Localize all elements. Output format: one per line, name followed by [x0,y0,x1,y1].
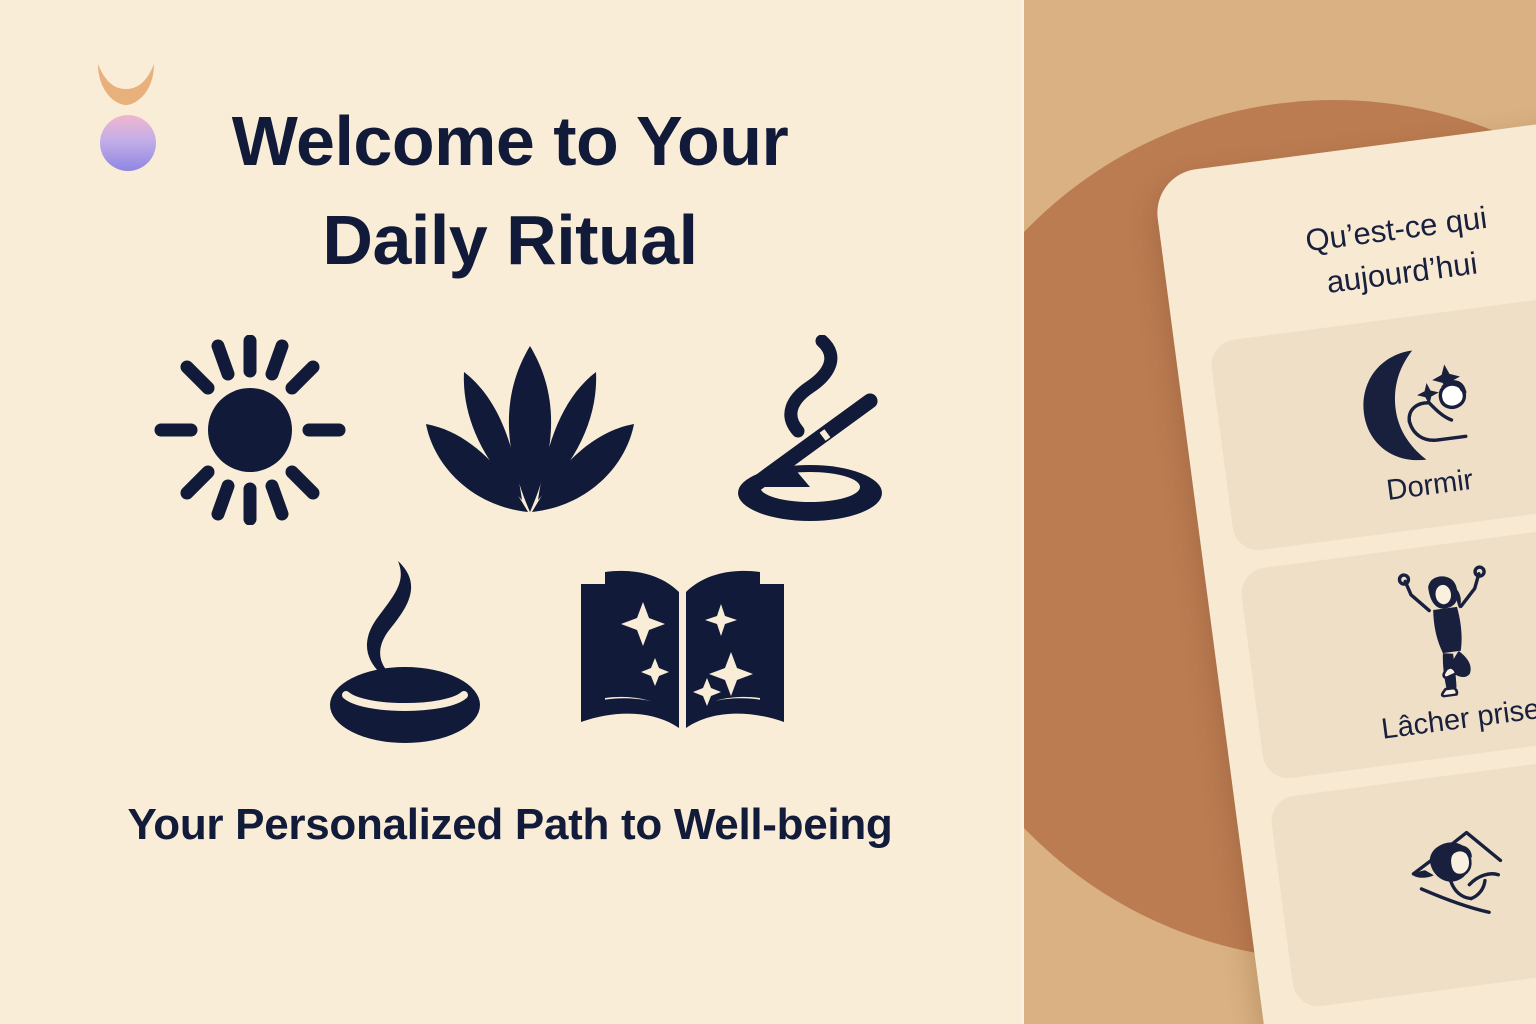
title-line-1: Welcome to Your [60,92,960,191]
slide-canvas: Welcome to Your Daily Ritual [0,0,1536,1024]
ritual-icon-row-top [150,330,910,530]
title-line-2: Daily Ritual [60,191,960,290]
mood-card-lacher-prise[interactable]: Lâcher prise [1238,519,1536,782]
open-book-icon [575,560,790,740]
ritual-icon-row-bottom [320,550,790,750]
mood-card-dormir[interactable]: Dormir [1208,291,1536,554]
crescent-moon-sleeping-person-icon [1342,333,1496,470]
page-subtitle: Your Personalized Path to Well-being [60,800,960,850]
lotus-icon [418,340,643,520]
incense-icon [710,335,910,525]
phone-question-text: Qu’est-ce qui aujourd’hui [1194,182,1536,322]
left-hero-panel: Welcome to Your Daily Ritual [0,0,1021,1024]
right-showcase-panel: Qu’est-ce qui aujourd’hui [1024,0,1536,1024]
page-title: Welcome to Your Daily Ritual [60,92,960,291]
yoga-tree-pose-person-icon [1386,557,1512,702]
sun-icon [150,335,350,525]
mood-card-label: Dormir [1385,463,1476,507]
person-lying-resting-icon [1400,810,1536,939]
candle-icon [320,555,490,745]
mood-card-resting[interactable] [1268,747,1536,1010]
